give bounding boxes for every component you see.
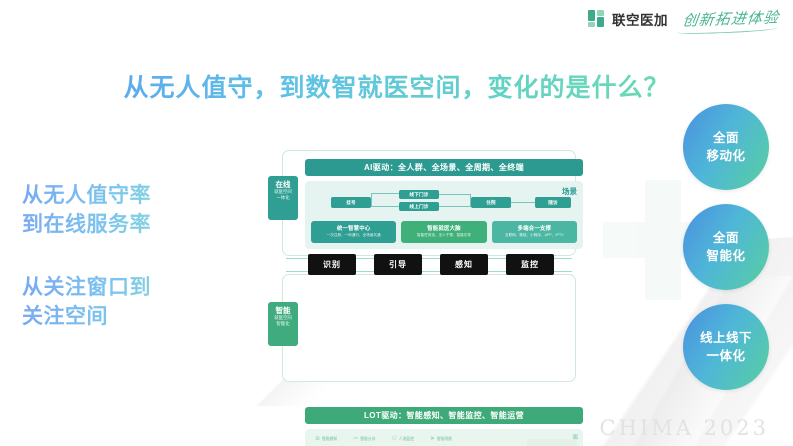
circle-1-line-2: 移动化 — [706, 147, 745, 165]
flow-box-inpatient: 住院 — [471, 197, 511, 208]
side-tab-intelligent-title: 智能 — [269, 306, 297, 315]
outcome-circle-online-offline: 线上线下 一体化 — [683, 304, 769, 390]
capability-box-guide: 引导 — [374, 254, 422, 275]
trio-1-sub: 一次注册、一码通行、全场景共通 — [327, 233, 381, 238]
ai-driver-banner: AI驱动：全人群、全场景、全周期、全终端 — [305, 159, 583, 176]
side-tab-online-title: 在线 — [269, 180, 297, 189]
top-panel-inner: 场景 挂号 线下门诊 线上门诊 住院 随访 — [305, 181, 583, 249]
side-tab-intelligent-sub2: 智能化 — [269, 321, 297, 327]
capability-trio: 统一智慧中心 一次注册、一码通行、全场景共通 智能就医大脑 智能任务流、无人干预… — [311, 221, 577, 243]
diagram-top-panel: AI驱动：全人群、全场景、全周期、全终端 场景 挂号 线下门诊 线上门诊 住院 — [282, 150, 576, 256]
side-tab-intelligent: 智能 就医空间 智能化 — [268, 302, 298, 346]
bottom-panel-inner: ≋ 智能感知 ✂ 智能分诊 ⚇ 人流监控 ➤ 智能导航 — [305, 429, 583, 446]
capability-box-sense: 感知 — [440, 254, 488, 275]
trio-2-sub: 智能任务流、无人干预、智能引导 — [417, 233, 471, 238]
center-diagram: AI驱动：全人群、全场景、全周期、全终端 场景 挂号 线下门诊 线上门诊 住院 — [268, 150, 590, 382]
diagram-bottom-panel: LOT驱动：智能感知、智能监控、智能运营 ≋ 智能感知 ✂ 智能分诊 ⚇ 人流监… — [282, 274, 576, 382]
circle-2-line-1: 全面 — [713, 229, 739, 247]
flow-box-followup: 随访 — [535, 197, 571, 208]
logo-script-slogan: 创新拓进体验 — [681, 6, 780, 30]
header-logo: 联空医加 创新拓进体验 — [588, 8, 779, 29]
circle-3-line-1: 线上线下 — [700, 329, 752, 347]
iot-icon-item-3: ⚇ 人流监控 — [391, 434, 414, 444]
trio-box-multi-terminal: 多端合一支撑 互联网、微信、小程序、APP、IPTV — [492, 221, 577, 243]
person-icon: ⚇ — [391, 436, 396, 442]
trio-box-unified-center: 统一智慧中心 一次注册、一码通行、全场景共通 — [311, 221, 396, 243]
wifi-icon: ≋ — [315, 436, 320, 442]
capability-box-monitor: 监控 — [506, 254, 554, 275]
statement-2-line-2: 关注空间 — [22, 303, 252, 332]
side-tab-online: 在线 就医空间 一体化 — [268, 176, 298, 220]
statement-2-line-1: 从关注窗口到 — [22, 274, 252, 303]
iot-icon-item-2: ✂ 智能分诊 — [353, 434, 375, 444]
flow-box-registration: 挂号 — [331, 197, 371, 208]
trio-3-sub: 互联网、微信、小程序、APP、IPTV — [505, 233, 564, 238]
statement-2: 从关注窗口到 关注空间 — [22, 274, 252, 332]
block-care-spaces: 门诊就医空间 住院就医空间 第三就医空间 云诊室空间 — [527, 439, 577, 446]
circle-1-line-1: 全面 — [713, 129, 739, 147]
signal-icon: ➤ — [430, 436, 435, 442]
circle-2-line-2: 智能化 — [706, 247, 745, 265]
slide-root: 联空医加 创新拓进体验 从无人值守，到数智就医空间，变化的是什么？ 从无人值守率… — [0, 0, 793, 446]
outcome-circles: 全面 移动化 全面 智能化 线上线下 一体化 — [683, 104, 769, 404]
iot-icon-item-4: ➤ 智能导航 — [430, 434, 452, 444]
iot-driver-banner: LOT驱动：智能感知、智能监控、智能运营 — [305, 407, 583, 424]
page-title: 从无人值守，到数智就医空间，变化的是什么？ — [0, 68, 793, 104]
logo-text: 联空医加 — [612, 9, 668, 29]
conference-watermark: CHIMA 2023 — [600, 416, 769, 440]
statement-1-line-2: 到在线服务率 — [22, 211, 252, 240]
patient-journey-flow: 挂号 线下门诊 线上门诊 住院 随访 — [313, 188, 575, 216]
side-tab-online-sub2: 一体化 — [269, 195, 297, 201]
outcome-circle-intelligent: 全面 智能化 — [683, 204, 769, 290]
statement-1-line-1: 从无人值守率 — [22, 182, 252, 211]
iot-icon-row: ≋ 智能感知 ✂ 智能分诊 ⚇ 人流监控 ➤ 智能导航 — [315, 434, 515, 444]
outcome-circle-mobile: 全面 移动化 — [683, 104, 769, 190]
logo-squares-icon — [588, 10, 605, 27]
capability-box-identify: 识别 — [308, 254, 356, 275]
iot-icon-item-1: ≋ 智能感知 — [315, 434, 337, 444]
iot-icon-label-3: 人流监控 — [399, 437, 414, 442]
flow-box-offline-clinic: 线下门诊 — [399, 190, 439, 199]
iot-icon-label-1: 智能感知 — [322, 437, 337, 442]
statement-1: 从无人值守率 到在线服务率 — [22, 182, 252, 240]
capability-boxes: 识别 引导 感知 监控 — [308, 254, 558, 276]
iot-icon-label-4: 智能导航 — [437, 437, 452, 442]
trio-box-smart-brain: 智能就医大脑 智能任务流、无人干预、智能引导 — [401, 221, 486, 243]
circle-3-line-2: 一体化 — [706, 347, 745, 365]
iot-icon-label-2: 智能分诊 — [360, 437, 375, 442]
scissors-icon: ✂ — [353, 436, 358, 442]
flow-box-online-clinic: 线上门诊 — [399, 202, 439, 211]
left-statements: 从无人值守率 到在线服务率 从关注窗口到 关注空间 — [22, 182, 252, 366]
